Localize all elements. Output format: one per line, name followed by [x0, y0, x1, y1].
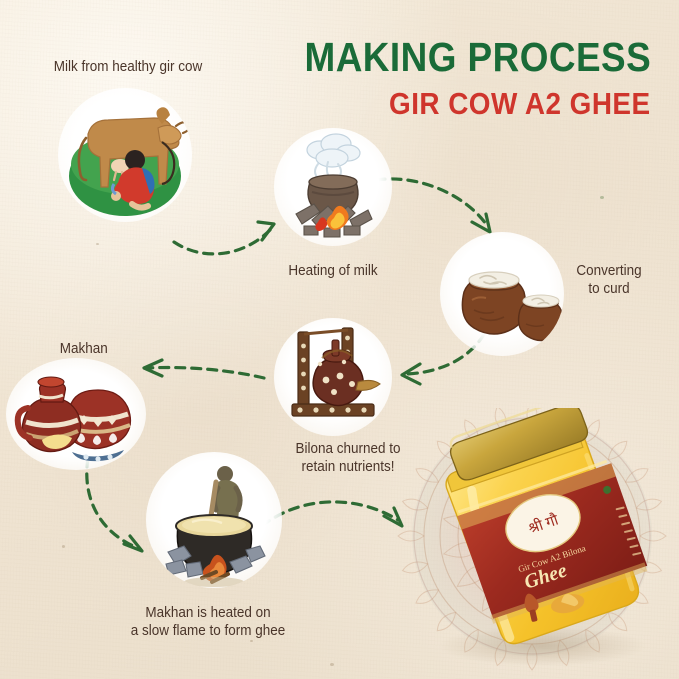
paper-fleck [330, 663, 334, 666]
pot-on-firewood-icon [274, 128, 392, 246]
caption-bilona-line2: retain nutrients! [302, 459, 395, 475]
infographic-canvas: MAKING PROCESS GIR COW A2 GHEE [0, 0, 679, 679]
caption-ghee-line1: Makhan is heated on [145, 605, 270, 621]
caption-makhan: Makhan [60, 340, 108, 358]
caption-bilona-line1: Bilona churned to [296, 441, 401, 457]
caption-ghee-line2: a slow flame to form ghee [131, 623, 285, 639]
caption-curd: Converting to curd [549, 262, 670, 298]
page-title: MAKING PROCESS [304, 36, 651, 78]
paper-fleck [250, 640, 253, 642]
decorated-butter-pots-icon [6, 358, 146, 470]
cauldron-stirring-icon [146, 452, 282, 588]
caption-bilona: Bilona churned to retain nutrients! [250, 440, 445, 476]
bilona-churner-icon [274, 318, 392, 436]
clay-curd-pots-icon [440, 232, 564, 356]
caption-curd-line2: to curd [588, 281, 629, 297]
caption-heating: Heating of milk [263, 262, 403, 280]
caption-ghee: Makhan is heated on a slow flame to form… [101, 604, 315, 640]
caption-curd-line1: Converting [576, 263, 641, 279]
caption-milk: Milk from healthy gir cow [35, 58, 221, 76]
cow-milking-icon [58, 88, 192, 222]
paper-fleck [600, 196, 604, 199]
paper-fleck [96, 243, 99, 245]
paper-fleck [62, 545, 65, 548]
page-subtitle: GIR COW A2 GHEE [390, 88, 651, 120]
